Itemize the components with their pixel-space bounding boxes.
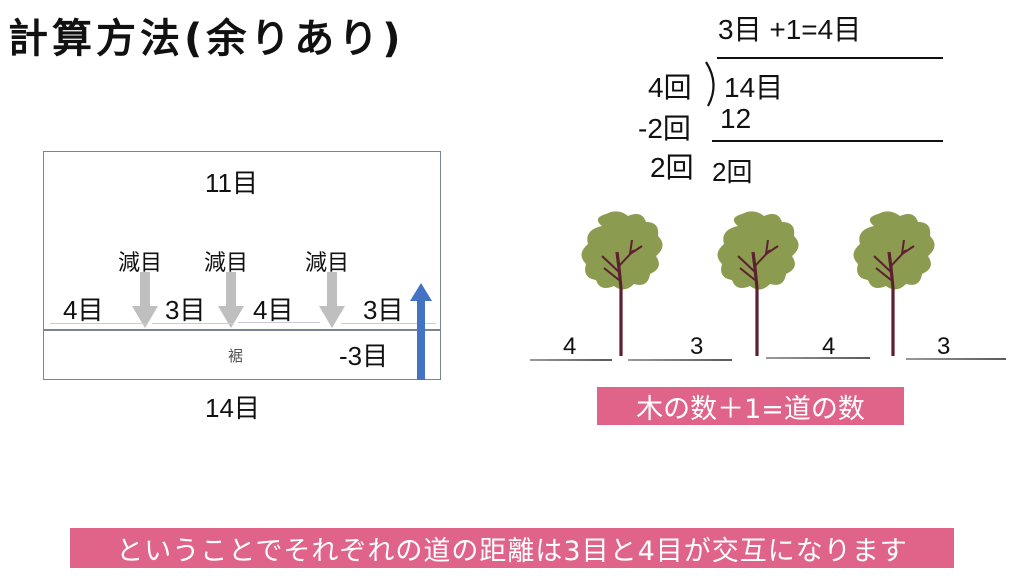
division-rule-bottom [712, 140, 943, 142]
diagram-divider-line [44, 329, 440, 331]
hem-label: 裾 [228, 345, 243, 366]
division-remainder: 2回 [712, 152, 752, 189]
ground-line-2 [628, 359, 732, 361]
segment-underline-2 [152, 323, 234, 324]
blue-up-arrow [410, 283, 432, 380]
division-quotient: 2回 [650, 146, 694, 186]
tree-distance-1: 4 [563, 333, 576, 361]
minus-three-label: -3目 [339, 336, 388, 373]
division-subtrahend-left: -2回 [638, 107, 691, 147]
division-subtrahend-right: 12 [720, 103, 751, 135]
segment-label-2: 3目 [165, 290, 205, 327]
tree-3 [844, 208, 940, 363]
page-title: 計算方法(余りあり) [8, 6, 405, 64]
diagram-bottom-stitch-count: 14目 [205, 388, 260, 425]
segment-underline-1 [50, 323, 146, 324]
bottom-caption-banner: ということでそれぞれの道の距離は3目と4目が交互になります [70, 528, 954, 568]
division-rule-top [717, 57, 943, 59]
segment-label-4: 3目 [363, 290, 403, 327]
segment-underline-3 [238, 322, 320, 323]
tree-distance-3: 4 [822, 333, 835, 361]
division-dividend: 14目 [724, 66, 783, 106]
tree-distance-4: 3 [937, 333, 950, 361]
ground-line-3 [766, 357, 870, 359]
division-divisor: 4回 [648, 66, 692, 106]
tree-1 [572, 208, 668, 363]
tree-2 [708, 208, 804, 363]
segment-label-1: 4目 [63, 290, 103, 327]
tree-distance-2: 3 [690, 333, 703, 361]
division-top-line: 3目 +1=4目 [718, 8, 861, 48]
ground-line-4 [906, 358, 1006, 360]
diagram-top-stitch-count: 11目 [205, 163, 258, 200]
tree-formula-banner: 木の数＋1=道の数 [597, 387, 904, 425]
